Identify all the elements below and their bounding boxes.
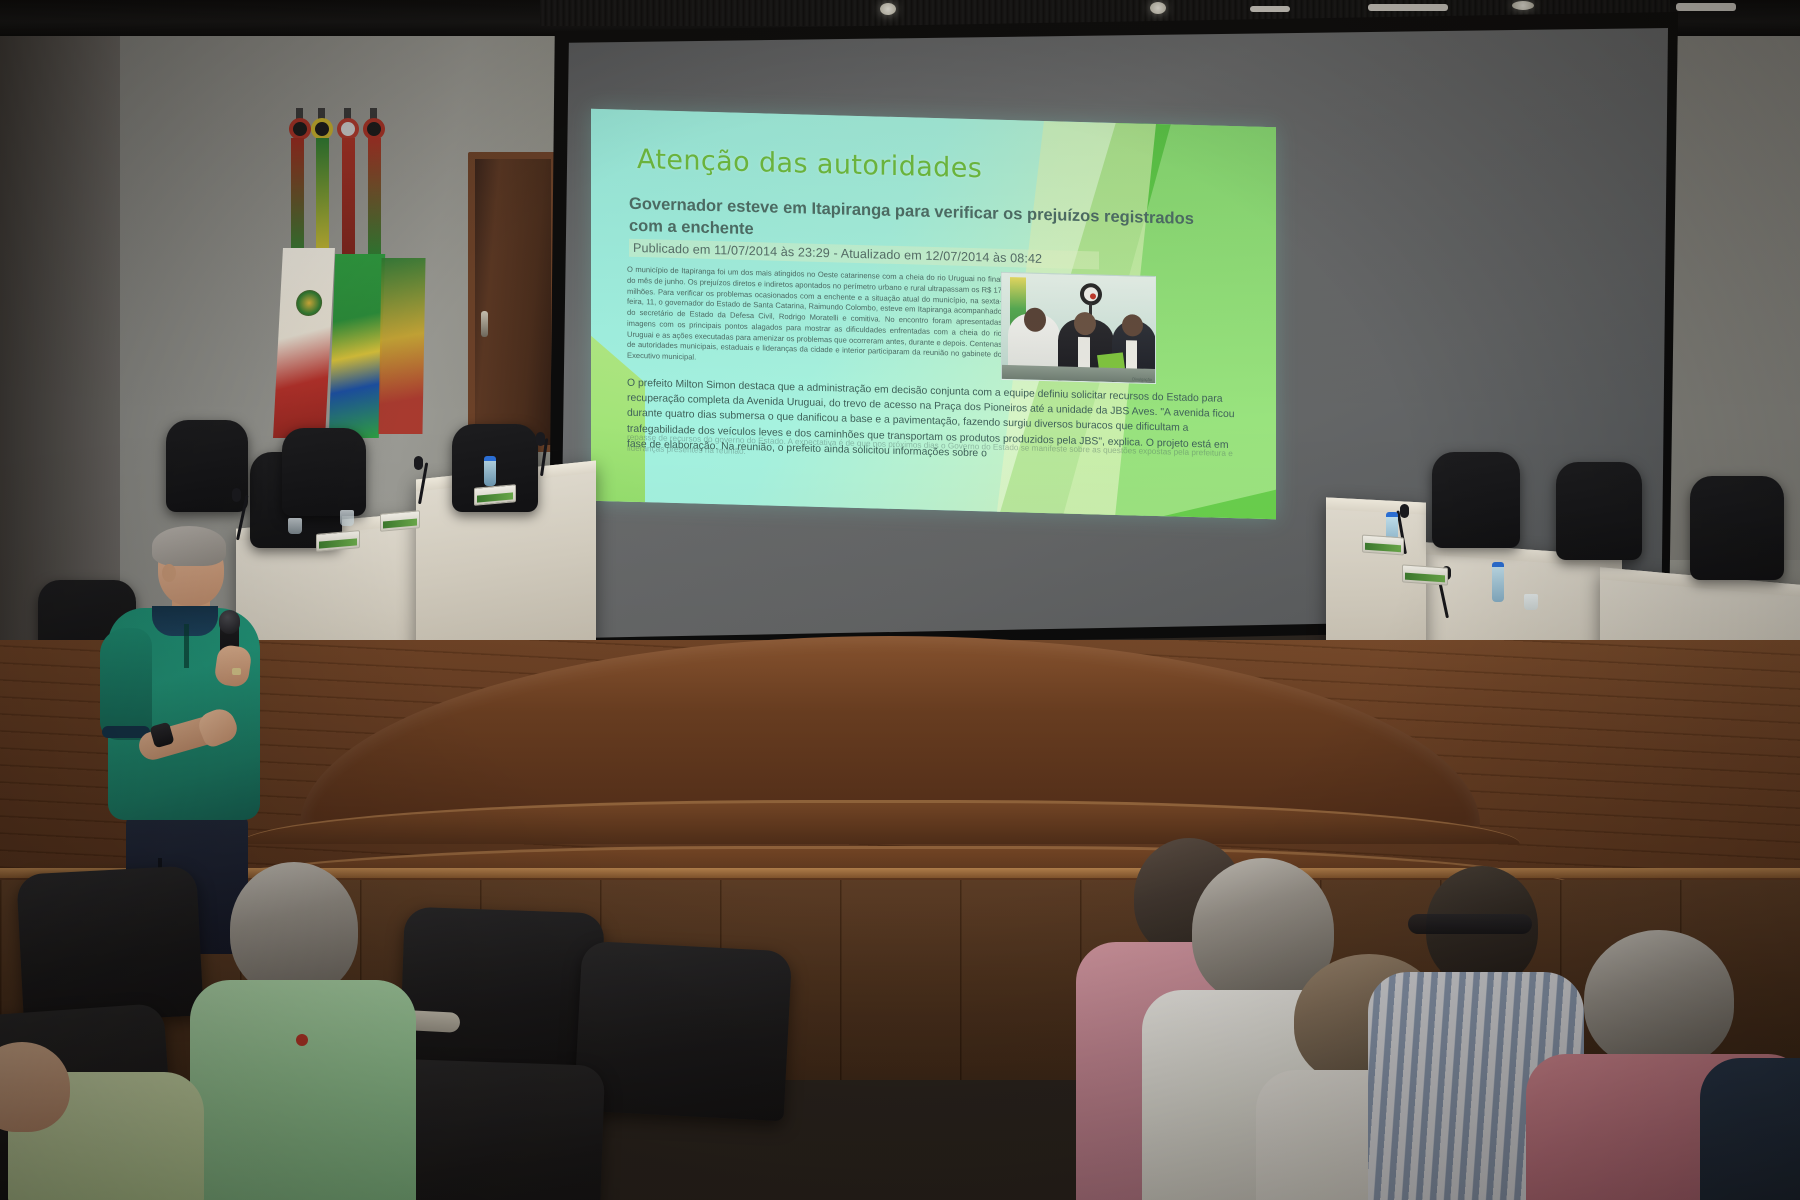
water-bottle[interactable] [484, 456, 496, 486]
photo-credit: Divulgação [1132, 376, 1152, 382]
flag-cluster [288, 108, 438, 448]
flag-ribbon [368, 138, 381, 256]
flag-ribbon [316, 138, 329, 266]
flag-finial [363, 118, 385, 140]
desk-nameplate [1362, 535, 1404, 556]
ceiling-lamp-icon [1512, 1, 1534, 10]
photo-person-head [1024, 307, 1046, 332]
audience-member [8, 1042, 198, 1200]
presenter-hair [152, 526, 226, 566]
auditorium-scene: Atenção das autoridades Governador estev… [0, 0, 1800, 1200]
desk-nameplate [474, 484, 516, 506]
dais-chair[interactable] [1556, 462, 1642, 560]
presenter-ring [232, 668, 241, 675]
slide-paragraph-1: O município de Itapiranga foi um dos mai… [627, 265, 1002, 372]
drinking-glass[interactable] [288, 518, 302, 534]
projected-slide: Atenção das autoridades Governador estev… [591, 109, 1276, 520]
audience-body [190, 980, 416, 1200]
desk-microphone-head [536, 432, 545, 446]
audience-shirt-logo [296, 1034, 308, 1046]
drinking-glass[interactable] [1524, 594, 1538, 610]
audience-eyeglasses-icon [1408, 914, 1532, 934]
audience-member [196, 862, 396, 1200]
flag-ribbon [291, 138, 304, 258]
audience-shoulder [0, 1042, 70, 1132]
door-handle-icon [481, 311, 488, 337]
desk-nameplate [1402, 564, 1448, 585]
ceiling-lamp-icon [1150, 2, 1166, 14]
audience-seat[interactable] [399, 907, 604, 1074]
flag-finial [289, 118, 311, 140]
drinking-glass[interactable] [340, 510, 354, 526]
desk-nameplate [316, 530, 360, 552]
nameplate-strip [477, 492, 513, 502]
photo-clock-icon [1080, 283, 1102, 306]
flag-brasil [329, 254, 385, 438]
water-bottle[interactable] [1492, 562, 1504, 602]
audience-seat[interactable] [574, 941, 793, 1122]
presenter-sleeve [100, 628, 152, 740]
presenter-placket [184, 624, 189, 668]
flag-ribbon [342, 138, 355, 258]
dais-chair[interactable] [282, 428, 366, 516]
presenter-microphone-head [219, 610, 240, 634]
audience-member [1700, 1038, 1800, 1200]
flag-municipal [378, 258, 425, 434]
audience-seat[interactable] [16, 865, 204, 1024]
ceiling-pipe [1250, 6, 1290, 12]
photo-person-head [1122, 314, 1143, 337]
nameplate-strip [1405, 573, 1445, 583]
desk-microphone-head [232, 488, 241, 502]
ceiling-lamp-icon [880, 3, 896, 15]
desk-nameplate [380, 510, 420, 531]
nameplate-strip [1365, 543, 1401, 553]
photo-person-head [1074, 312, 1096, 336]
desk-microphone-head [1400, 504, 1409, 518]
dais-chair[interactable] [1690, 476, 1784, 580]
ceiling-pipe [1368, 4, 1448, 11]
slide-photo: Divulgação [1001, 272, 1156, 384]
desk-microphone-head [414, 456, 423, 470]
flag-santa-catarina [273, 248, 335, 438]
nameplate-strip [319, 538, 357, 548]
dais-chair[interactable] [1432, 452, 1520, 548]
nameplate-strip [383, 519, 417, 529]
flag-finial [337, 118, 359, 140]
door-left[interactable] [468, 152, 558, 452]
flag-finial [311, 118, 333, 140]
audience-body [1700, 1058, 1800, 1200]
presenter-ear [162, 564, 176, 582]
audience-head [230, 862, 358, 996]
ceiling-pipe [1676, 3, 1736, 11]
